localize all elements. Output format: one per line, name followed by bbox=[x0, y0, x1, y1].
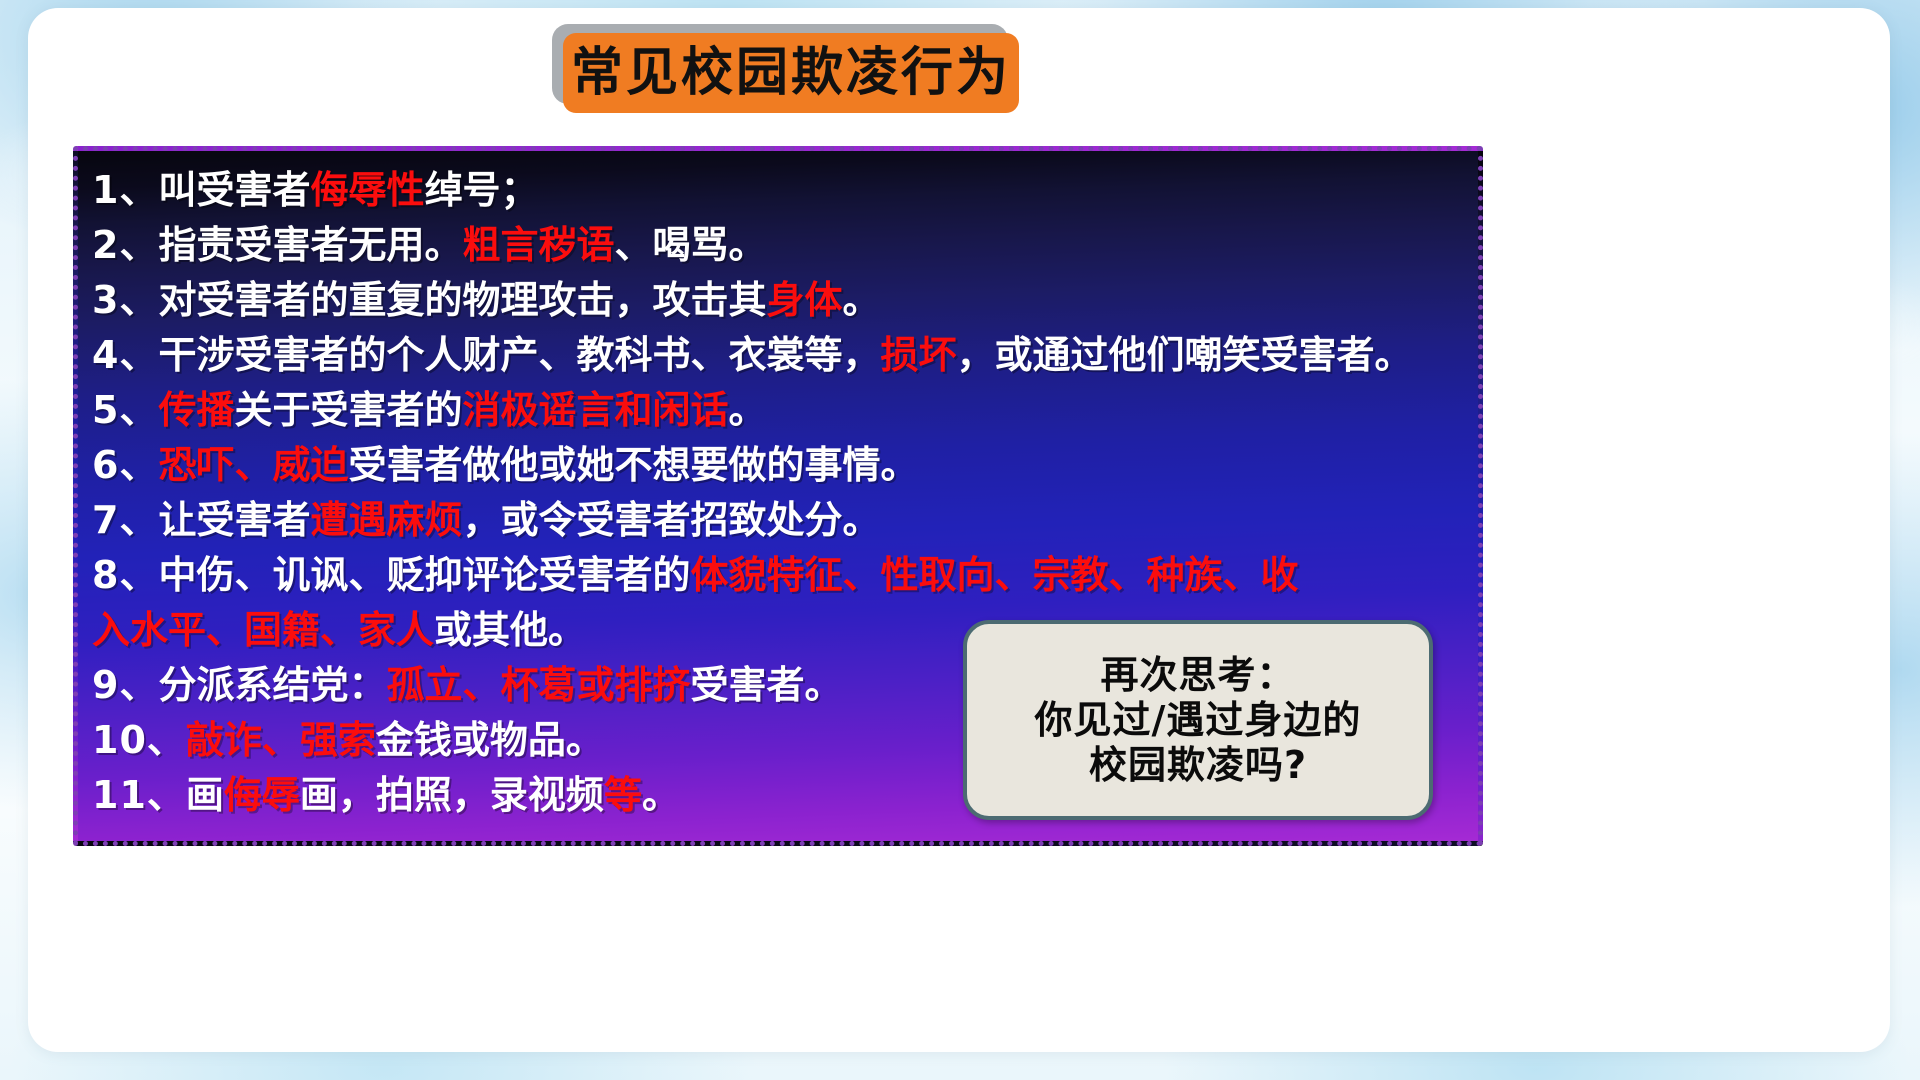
behavior-highlight-text: 消极谣言和闲话 bbox=[462, 388, 728, 432]
behavior-highlight-text: 孤立、杯葛或排挤 bbox=[386, 663, 690, 707]
behavior-text: 、喝骂。 bbox=[614, 223, 766, 267]
behavior-text: 让受害者 bbox=[158, 498, 310, 542]
behavior-highlight-text: 侮辱性 bbox=[310, 168, 424, 212]
behavior-text: 关于受害者的 bbox=[234, 388, 462, 432]
behavior-highlight-text: 遭遇麻烦 bbox=[310, 498, 462, 542]
behavior-text: 受害者。 bbox=[690, 663, 842, 707]
reflection-callout: 再次思考： 你见过/遇过身边的 校园欺凌吗? bbox=[963, 620, 1433, 820]
behavior-highlight-text: 侮辱 bbox=[224, 773, 300, 817]
behavior-item-number: 3、 bbox=[92, 278, 158, 322]
behavior-text: 画，拍照，录视频 bbox=[300, 773, 604, 817]
behavior-item-number: 6、 bbox=[92, 443, 158, 487]
title-plate: 常见校园欺凌行为 bbox=[563, 33, 1019, 113]
behavior-highlight-text: 传播 bbox=[158, 388, 234, 432]
behavior-highlight-text: 身体 bbox=[766, 278, 842, 322]
callout-line: 再次思考： bbox=[1100, 653, 1295, 698]
behavior-text: 。 bbox=[729, 388, 767, 432]
behavior-text: 分派系结党： bbox=[158, 663, 386, 707]
behavior-item-number: 11、 bbox=[92, 773, 186, 817]
behavior-item: 4、干涉受害者的个人财产、教科书、衣裳等，损坏，或通过他们嘲笑受害者。 bbox=[92, 328, 1478, 383]
behavior-text: 绰号； bbox=[424, 168, 538, 212]
behavior-item: 2、指责受害者无用。粗言秽语、喝骂。 bbox=[92, 218, 1478, 273]
behavior-text: 受害者做他或她不想要做的事情。 bbox=[348, 443, 918, 487]
behavior-item: 8、中伤、讥讽、贬抑评论受害者的体貌特征、性取向、宗教、种族、收 bbox=[92, 548, 1478, 603]
behavior-item-number: 8、 bbox=[92, 553, 158, 597]
behavior-text: 中伤、讥讽、贬抑评论受害者的 bbox=[158, 553, 690, 597]
behavior-text: 叫受害者 bbox=[158, 168, 310, 212]
behavior-text: 对受害者的重复的物理攻击，攻击其 bbox=[158, 278, 766, 322]
behavior-highlight-text: 恐吓、威迫 bbox=[158, 443, 348, 487]
behavior-text: 或其他。 bbox=[434, 608, 586, 652]
behavior-item: 5、传播关于受害者的消极谣言和闲话。 bbox=[92, 383, 1478, 438]
behavior-item: 7、让受害者遭遇麻烦，或令受害者招致处分。 bbox=[92, 493, 1478, 548]
behavior-item-number: 5、 bbox=[92, 388, 158, 432]
behavior-text: 。 bbox=[842, 278, 880, 322]
behavior-text: 金钱或物品。 bbox=[376, 718, 604, 762]
behavior-highlight-text: 等 bbox=[604, 773, 642, 817]
callout-line: 你见过/遇过身边的 bbox=[1035, 698, 1362, 743]
callout-line: 校园欺凌吗? bbox=[1089, 743, 1307, 788]
behavior-highlight-text: 体貌特征、性取向、宗教、种族、收 bbox=[690, 553, 1298, 597]
behavior-item-number: 4、 bbox=[92, 333, 158, 377]
behavior-highlight-text: 入水平、国籍、家人 bbox=[92, 608, 434, 652]
slide-title-banner: 常见校园欺凌行为 bbox=[563, 33, 1019, 113]
behavior-item-number: 9、 bbox=[92, 663, 158, 707]
page-title: 常见校园欺凌行为 bbox=[571, 47, 1011, 99]
behavior-text: 干涉受害者的个人财产、教科书、衣裳等， bbox=[158, 333, 880, 377]
behavior-item: 3、对受害者的重复的物理攻击，攻击其身体。 bbox=[92, 273, 1478, 328]
behavior-highlight-text: 敲诈、强索 bbox=[186, 718, 376, 762]
behavior-item-number: 1、 bbox=[92, 168, 158, 212]
behavior-item: 1、叫受害者侮辱性绰号； bbox=[92, 163, 1478, 218]
behavior-text: 。 bbox=[642, 773, 680, 817]
behavior-text: 画 bbox=[186, 773, 224, 817]
behavior-item-number: 7、 bbox=[92, 498, 158, 542]
behavior-item: 6、恐吓、威迫受害者做他或她不想要做的事情。 bbox=[92, 438, 1478, 493]
behavior-highlight-text: 损坏 bbox=[880, 333, 956, 377]
behavior-highlight-text: 粗言秽语 bbox=[462, 223, 614, 267]
behavior-item-number: 2、 bbox=[92, 223, 158, 267]
behavior-text: ，或通过他们嘲笑受害者。 bbox=[956, 333, 1412, 377]
behavior-text: 指责受害者无用。 bbox=[158, 223, 462, 267]
behavior-item-number: 10、 bbox=[92, 718, 186, 762]
behavior-text: ，或令受害者招致处分。 bbox=[462, 498, 880, 542]
